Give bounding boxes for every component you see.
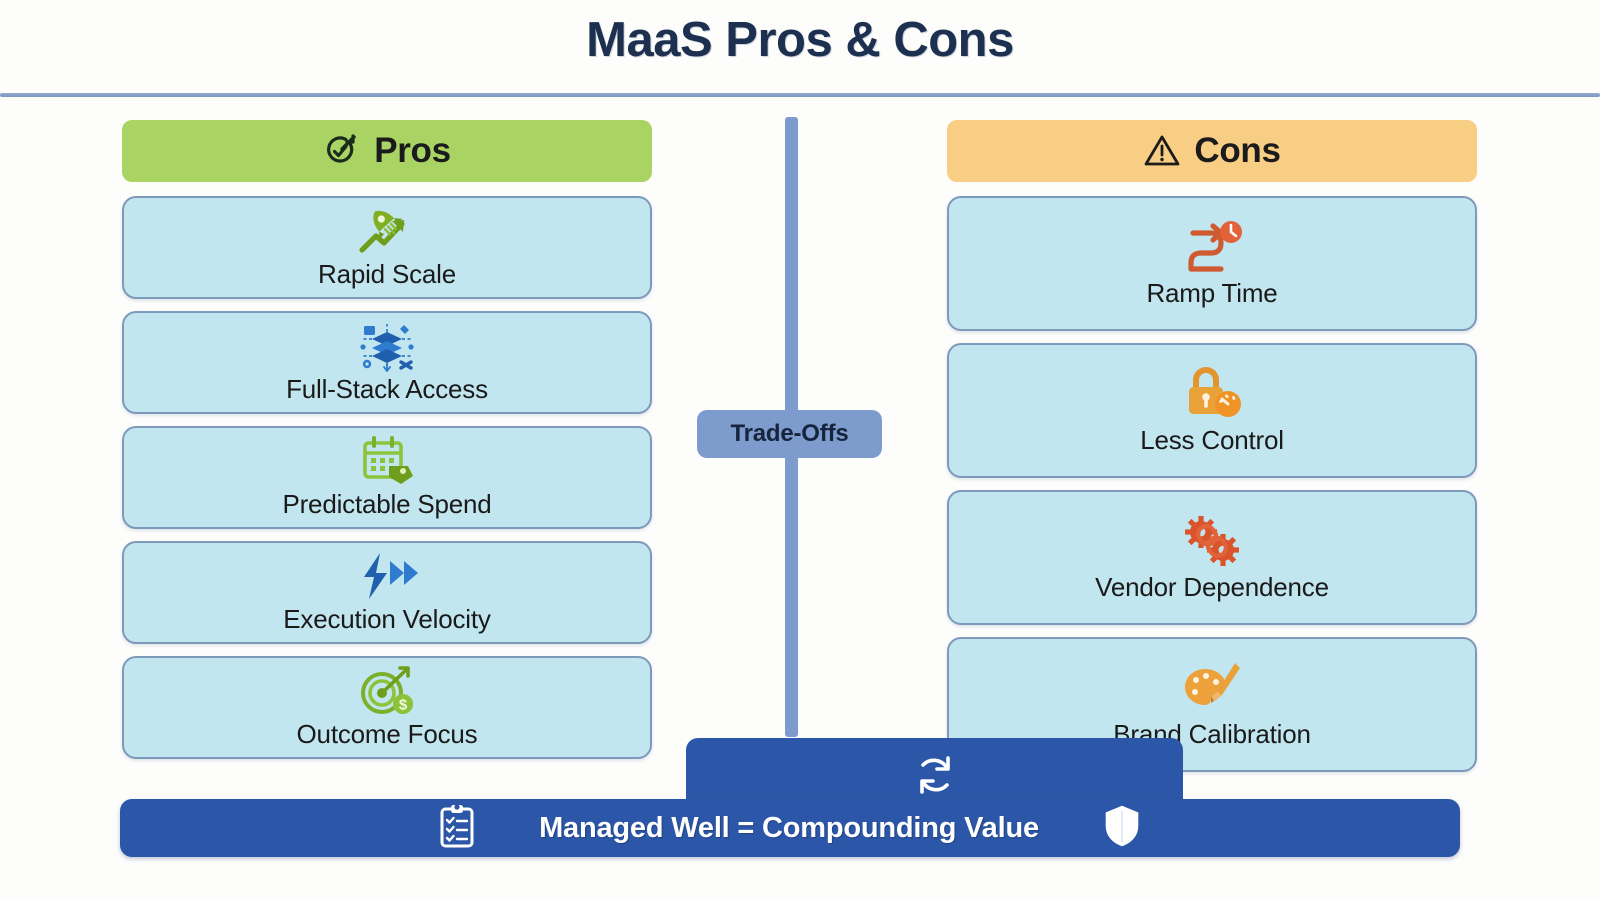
cons-header-label: Cons (1194, 131, 1280, 171)
cons-card-less-control[interactable]: Less Control (947, 343, 1477, 478)
pros-card-list: Rapid Scale (122, 196, 652, 771)
layered-stack-icon (355, 320, 419, 372)
trade-offs-label: Trade-Offs (730, 420, 848, 448)
pros-card-rapid-scale[interactable]: Rapid Scale (122, 196, 652, 299)
bottom-banner: Managed Well = Compounding Value (120, 799, 1460, 857)
pros-card-label: Predictable Spend (282, 489, 491, 520)
padlock-gauge-icon (1180, 365, 1244, 423)
pros-card-predictable-spend[interactable]: Predictable Spend (122, 426, 652, 529)
cons-card-list: Ramp Time (947, 196, 1477, 784)
trade-offs-badge: Trade-Offs (697, 410, 882, 458)
cons-card-label: Vendor Dependence (1095, 572, 1329, 603)
gears-chain-link-icon (1181, 512, 1243, 570)
pros-card-full-stack-access[interactable]: Full-Stack Access (122, 311, 652, 414)
winding-road-clock-icon (1179, 218, 1245, 276)
cons-card-vendor-dependence[interactable]: Vendor Dependence (947, 490, 1477, 625)
title-divider-rule (0, 93, 1600, 97)
pros-card-label: Rapid Scale (318, 259, 456, 290)
cons-card-ramp-time[interactable]: Ramp Time (947, 196, 1477, 331)
pros-card-label: Full-Stack Access (286, 374, 488, 405)
pros-column: Pros R (122, 120, 652, 771)
pros-header-label: Pros (374, 131, 451, 171)
lightning-fast-forward-icon (354, 550, 420, 602)
svg-text:$: $ (399, 697, 408, 714)
target-dollar-icon: $ (356, 665, 418, 717)
cons-card-label: Less Control (1140, 425, 1284, 456)
warning-triangle-icon (1143, 132, 1181, 170)
clipboard-checklist-icon (437, 803, 477, 854)
pros-header: Pros (122, 120, 652, 182)
check-circle-arrow-icon (323, 132, 361, 170)
page-title: MaaS Pros & Cons (0, 12, 1600, 68)
calendar-price-tag-icon (356, 435, 418, 487)
banner-text: Managed Well = Compounding Value (539, 812, 1039, 845)
refresh-sync-icon (912, 752, 958, 803)
cons-column: Cons Ramp Time (947, 120, 1477, 784)
pros-card-label: Execution Velocity (283, 604, 490, 635)
shield-icon (1101, 802, 1143, 855)
pros-card-outcome-focus[interactable]: $ Outcome Focus (122, 656, 652, 759)
pros-card-label: Outcome Focus (297, 719, 478, 750)
infographic-canvas: MaaS Pros & Cons Pros (0, 0, 1600, 900)
cons-header: Cons (947, 120, 1477, 182)
palette-brush-icon (1181, 659, 1243, 717)
rocket-growth-icon (354, 205, 420, 257)
pros-card-execution-velocity[interactable]: Execution Velocity (122, 541, 652, 644)
cons-card-label: Ramp Time (1146, 278, 1277, 309)
